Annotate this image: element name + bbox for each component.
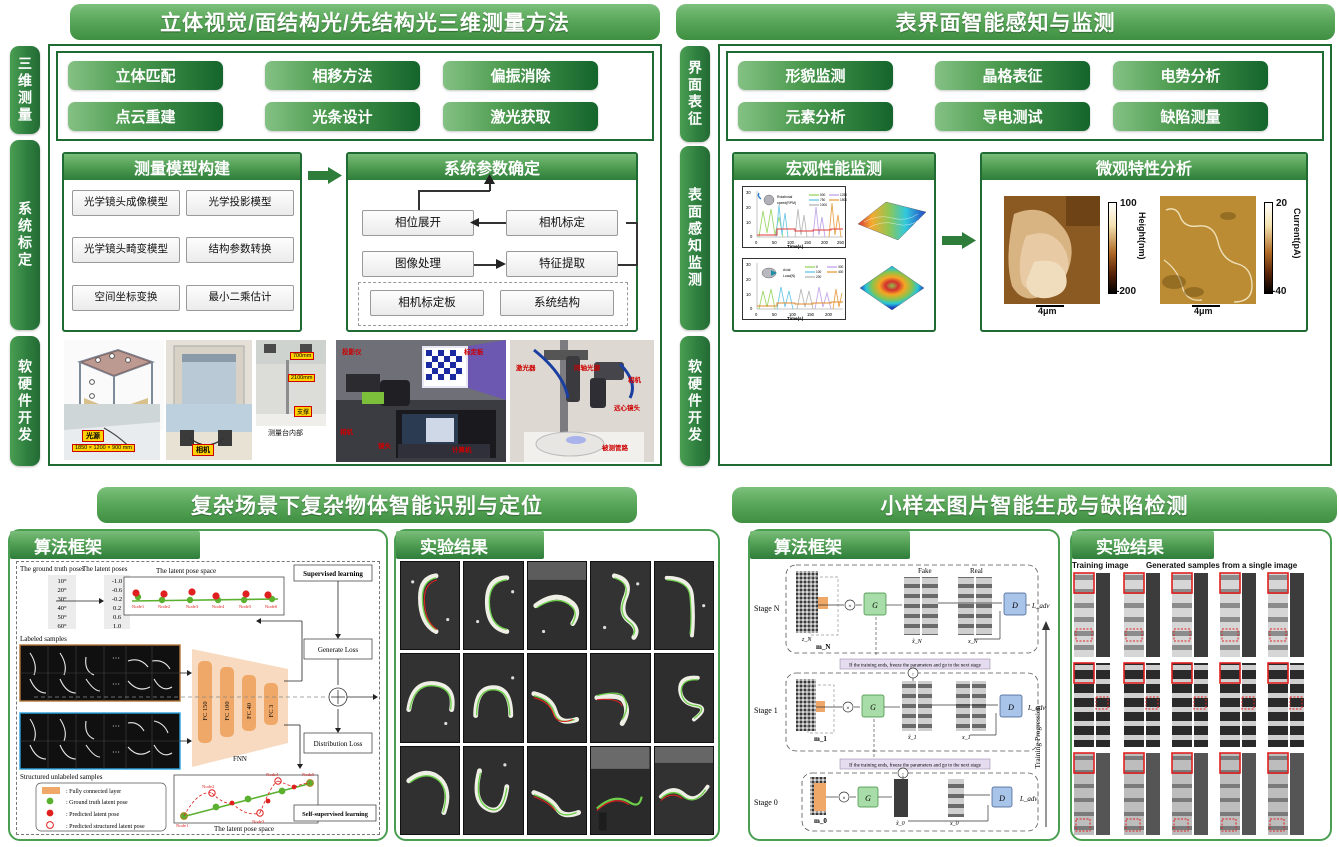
- svg-text:Axial: Axial: [783, 268, 791, 272]
- photo-tag-cam2: 相机: [340, 426, 353, 436]
- svg-text:x_N: x_N: [967, 639, 979, 645]
- vtab-hw-sw-dev-2[interactable]: 软硬件开发: [680, 336, 710, 466]
- svg-text:1250: 1250: [840, 193, 847, 197]
- chart-axial-load: 3020100 050100150200 AxialLoad(N) 010020…: [742, 258, 846, 320]
- algo-card-title-p4: 算法框架: [750, 531, 910, 559]
- svg-text:Real: Real: [970, 567, 983, 575]
- method2-pill-3[interactable]: 元素分析: [738, 102, 893, 131]
- photo-tag-light-spec: 1850 × 1200 × 900 mm: [72, 444, 135, 452]
- colorbar-height-max: 100: [1120, 198, 1137, 209]
- svg-text:50: 50: [772, 312, 777, 317]
- result-cell: [400, 746, 460, 835]
- label-generated-samples: Generated samples from a single image: [1146, 561, 1297, 570]
- result-cell: [400, 561, 460, 650]
- svg-text:Node3: Node3: [252, 819, 265, 824]
- svg-text:0.2: 0.2: [113, 605, 121, 612]
- svg-text:m_1: m_1: [814, 735, 827, 743]
- svg-text:30: 30: [746, 190, 751, 195]
- svg-text:×: ×: [846, 706, 849, 712]
- model-item-0[interactable]: 光学镜头成像模型: [72, 190, 180, 216]
- scalebar-right: [1192, 305, 1220, 307]
- afm-image-current: [1160, 196, 1256, 304]
- photo-tag-camera: 相机: [192, 444, 214, 456]
- svg-text:FNN: FNN: [233, 755, 247, 763]
- vtab-system-calibration[interactable]: 系统标定: [10, 140, 40, 330]
- panel-surface-sensing-title: 表界面智能感知与监测: [676, 4, 1335, 40]
- svg-text:The ground truth poses: The ground truth poses: [20, 565, 85, 573]
- svg-text:1.0: 1.0: [113, 623, 121, 630]
- svg-text:1000: 1000: [820, 203, 827, 207]
- result-cell: [527, 561, 587, 650]
- model-item-3[interactable]: 结构参数转换: [186, 237, 294, 263]
- svg-text:Stage N: Stage N: [754, 604, 780, 613]
- model-item-1[interactable]: 光学投影模型: [186, 190, 294, 216]
- arrow-up-icon: [484, 174, 495, 184]
- model-item-2[interactable]: 光学镜头畸变模型: [72, 237, 180, 263]
- photo-tag-projector: 投影仪: [342, 346, 362, 356]
- svg-text:20: 20: [746, 205, 751, 210]
- card-measurement-model-title: 测量模型构建: [64, 154, 300, 180]
- svg-text:G: G: [872, 601, 878, 610]
- method2-pill-0[interactable]: 形貌监测: [738, 61, 893, 90]
- svg-text:L_adv: L_adv: [1031, 602, 1050, 610]
- photo-tag-computer: 计算机: [452, 444, 472, 454]
- panel-sample-generation: 小样本图片智能生成与缺陷检测 算法框架 Stage N: [732, 487, 1337, 845]
- scalebar-left: [1036, 305, 1064, 307]
- method2-pill-1[interactable]: 晶格表征: [935, 61, 1090, 90]
- svg-text:50°: 50°: [57, 614, 67, 621]
- card-micro-analysis: 微观特性分析 100 -200 Height(nm) 4μm: [980, 152, 1308, 332]
- svg-text:Node4: Node4: [212, 604, 225, 609]
- param-item-feature-extract[interactable]: 特征提取: [506, 251, 618, 277]
- algo-card-title-p3: 算法框架: [10, 531, 200, 559]
- svg-text:: Predicted structured latent: : Predicted structured latent pose: [66, 824, 145, 830]
- panel-3d-measurement-title: 立体视觉/面结构光/先结构光三维测量方法: [70, 4, 660, 40]
- result-card-title-p4: 实验结果: [1072, 531, 1214, 559]
- param-item-camera-calib[interactable]: 相机标定: [506, 210, 618, 236]
- result-cell: [590, 746, 650, 835]
- svg-text:Training Progression: Training Progression: [1033, 705, 1042, 768]
- svg-text:Distribution Loss: Distribution Loss: [314, 740, 363, 748]
- arrow-left-icon: [470, 218, 480, 227]
- svg-text:D: D: [998, 794, 1005, 803]
- svg-text:The latent poses: The latent poses: [82, 565, 128, 573]
- svg-text:100: 100: [816, 270, 822, 274]
- svg-text:Time(s): Time(s): [787, 244, 804, 249]
- svg-text:If the training ends, freeze t: If the training ends, freeze the paramet…: [849, 664, 982, 669]
- colorbar-height-label: Height(nm): [1137, 212, 1147, 260]
- svg-text:60°: 60°: [57, 623, 67, 630]
- photo-tag-support: 支撑: [294, 406, 312, 417]
- model-item-5[interactable]: 最小二乘估计: [186, 285, 294, 311]
- svg-text:×: ×: [842, 796, 845, 802]
- param-item-calib-board[interactable]: 相机标定板: [370, 290, 484, 316]
- photo-tag-coax: 同轴光源: [574, 362, 600, 372]
- svg-text:40°: 40°: [57, 605, 67, 612]
- result-cell: [590, 653, 650, 742]
- svg-text:300: 300: [838, 265, 844, 269]
- flow-arrow-icon-2: [942, 232, 976, 249]
- method-pill-0[interactable]: 立体匹配: [68, 61, 223, 90]
- afm-image-height: [1004, 196, 1100, 304]
- svg-text:Time(s): Time(s): [787, 316, 804, 321]
- svg-text:If the training ends, freeze t: If the training ends, freeze the paramet…: [849, 764, 982, 769]
- vtab-3d-measure[interactable]: 三维测量: [10, 46, 40, 134]
- panel-object-recognition: 复杂场景下复杂物体智能识别与定位 算法框架 The ground truth p…: [2, 487, 724, 845]
- svg-text:Node1: Node1: [132, 604, 145, 609]
- svg-text:250: 250: [837, 240, 845, 245]
- scalebar-left-label: 4μm: [1038, 306, 1057, 316]
- conn-2: [418, 190, 420, 210]
- vtab-surface-monitoring[interactable]: 表面感知监测: [680, 146, 710, 330]
- svg-text:x_0: x_0: [949, 821, 959, 827]
- svg-text:···: ···: [112, 722, 120, 731]
- photo-tag-laser: 激光器: [516, 362, 536, 372]
- result-cell: [654, 561, 714, 650]
- svg-text:Load(N): Load(N): [783, 274, 795, 278]
- svg-text:Node6: Node6: [265, 604, 278, 609]
- svg-text:Fake: Fake: [918, 567, 932, 575]
- svg-text:0: 0: [750, 306, 753, 311]
- svg-text:x̃_N: x̃_N: [911, 639, 923, 645]
- svg-text:L_adv: L_adv: [1019, 795, 1038, 803]
- svg-text:750: 750: [820, 198, 826, 202]
- svg-text:···: ···: [112, 680, 120, 689]
- svg-text:m_0: m_0: [814, 817, 827, 825]
- svg-text:-0.6: -0.6: [112, 587, 123, 594]
- surface-plot-3d-1: [852, 192, 932, 254]
- arrow-right-icon: [496, 259, 506, 269]
- method2-pill-2[interactable]: 电势分析: [1113, 61, 1268, 90]
- vtab-hw-sw-dev[interactable]: 软硬件开发: [10, 336, 40, 466]
- svg-text:D: D: [1007, 703, 1014, 712]
- svg-text:Stage 1: Stage 1: [754, 706, 778, 715]
- result-cell: [654, 653, 714, 742]
- svg-text:The latent pose space: The latent pose space: [156, 567, 216, 575]
- svg-text:0: 0: [755, 312, 758, 317]
- chart-rotational-speed: 3020100 050100150200250 Rotationalspeed(…: [742, 186, 846, 248]
- method-pill-1[interactable]: 相移方法: [265, 61, 420, 90]
- svg-text:FC 40: FC 40: [246, 703, 253, 719]
- photo-tag-dim-h: 700mm: [290, 352, 314, 360]
- svg-text:···: ···: [112, 748, 120, 757]
- svg-text:Self-supervised learning: Self-supervised learning: [302, 811, 369, 818]
- svg-text:G: G: [870, 703, 876, 712]
- svg-text:400: 400: [838, 270, 844, 274]
- model-item-4[interactable]: 空间坐标变换: [72, 285, 180, 311]
- param-item-image-proc[interactable]: 图像处理: [362, 251, 474, 277]
- flow-arrow-icon: [308, 167, 342, 184]
- result-card-title-p3: 实验结果: [396, 531, 544, 559]
- svg-text:: Fully connected layer: : Fully connected layer: [66, 789, 121, 795]
- svg-text:z_N: z_N: [801, 637, 812, 643]
- svg-text:FC 3: FC 3: [268, 705, 275, 718]
- svg-text:Node3: Node3: [186, 604, 199, 609]
- panel-surface-sensing: 表界面智能感知与监测 界面表征 表面感知监测 软硬件开发 形貌监测 晶格表征 电…: [676, 4, 1335, 470]
- svg-text:1500: 1500: [840, 198, 847, 202]
- card-system-parameters: 系统参数确定 相位展开 相机标定 图像处理 特征提取 相机标定板 系统结构: [346, 152, 638, 332]
- svg-text:150: 150: [804, 240, 812, 245]
- colorbar-current: [1264, 202, 1273, 294]
- poster-root: 立体视觉/面结构光/先结构光三维测量方法 三维测量 系统标定 软硬件开发 立体匹…: [0, 0, 1339, 847]
- svg-text:200: 200: [816, 275, 822, 279]
- svg-text:Node4: Node4: [266, 772, 279, 777]
- photo-platform-interior: 700mm 2100mm 支撑: [256, 340, 326, 426]
- svg-text:200: 200: [821, 240, 829, 245]
- svg-text:200: 200: [825, 312, 833, 317]
- svg-text:0: 0: [816, 265, 818, 269]
- method-pill-3[interactable]: 点云重建: [68, 102, 223, 131]
- method2-pill-4[interactable]: 导电测试: [935, 102, 1090, 131]
- svg-text:Node1: Node1: [176, 823, 189, 828]
- svg-text:↑: ↑: [912, 672, 915, 678]
- svg-text:10°: 10°: [57, 578, 67, 585]
- colorbar-height: [1108, 202, 1117, 294]
- photo-camera-closeup: 相机: [166, 404, 252, 460]
- algo-diagram-p3: The ground truth poses 10°20°30° 40°50°6…: [16, 561, 380, 835]
- colorbar-height-min: -200: [1116, 286, 1136, 297]
- gan-diagram: Stage N z_N m_N × G Fake Real x̃_N x_N: [752, 561, 1056, 837]
- xray-result-grid: [1072, 571, 1330, 837]
- svg-text:0.6: 0.6: [113, 614, 122, 621]
- colorbar-current-max: 20: [1276, 198, 1287, 209]
- photo-label-inside: 测量台内部: [268, 428, 303, 438]
- svg-text:20°: 20°: [57, 587, 67, 594]
- conn-7: [636, 222, 638, 264]
- result-cell: [463, 653, 523, 742]
- photo-tag-light: 光源: [82, 430, 104, 442]
- result-cell: [463, 561, 523, 650]
- svg-text:Node2: Node2: [158, 604, 171, 609]
- card-macro-title: 宏观性能监测: [734, 154, 934, 180]
- param-item-phase-unwrap[interactable]: 相位展开: [362, 210, 474, 236]
- svg-text:10: 10: [746, 220, 751, 225]
- svg-text:FC 100: FC 100: [224, 701, 231, 720]
- result-cell: [527, 653, 587, 742]
- conn-3: [418, 190, 490, 192]
- svg-text:x_1: x_1: [961, 735, 971, 741]
- card-micro-title: 微观特性分析: [982, 154, 1306, 180]
- method-pill-4[interactable]: 光条设计: [265, 102, 420, 131]
- result-cell: [463, 746, 523, 835]
- photo-tag-lens: 镜头: [378, 440, 391, 450]
- photo-laser-setup: 激光器 同轴光源 相机 远心镜头 被测管路: [510, 340, 654, 462]
- card-macro-monitoring: 宏观性能监测 3020100: [732, 152, 936, 332]
- photo-tag-calib-board: 标定板: [464, 346, 484, 356]
- panel-sample-generation-title: 小样本图片智能生成与缺陷检测: [732, 487, 1337, 523]
- svg-text:30: 30: [746, 262, 751, 267]
- svg-text:Generate Loss: Generate Loss: [318, 646, 359, 654]
- method-pill-2[interactable]: 偏振消除: [443, 61, 598, 90]
- svg-text:···: ···: [112, 654, 120, 663]
- svg-text:30°: 30°: [57, 596, 67, 603]
- svg-text:: Ground truth latent pose: : Ground truth latent pose: [66, 800, 128, 806]
- conn-8: [618, 264, 638, 266]
- svg-text:0: 0: [750, 234, 753, 239]
- result-cell: [400, 653, 460, 742]
- svg-text:Labeled samples: Labeled samples: [20, 635, 67, 643]
- panel-3d-measurement: 立体视觉/面结构光/先结构光三维测量方法 三维测量 系统标定 软硬件开发 立体匹…: [6, 4, 666, 470]
- svg-text:-0.2: -0.2: [112, 596, 122, 603]
- svg-text:Structured unlabeled samples: Structured unlabeled samples: [20, 773, 103, 781]
- photo-tag-pipe: 被测管路: [602, 442, 628, 452]
- svg-text:Node5: Node5: [239, 604, 252, 609]
- svg-text:50: 50: [772, 240, 777, 245]
- svg-text:10: 10: [746, 292, 751, 297]
- svg-text:FC 150: FC 150: [202, 701, 209, 720]
- svg-text:speed(RPM): speed(RPM): [777, 201, 796, 205]
- svg-text:20: 20: [746, 277, 751, 282]
- method2-pill-5[interactable]: 缺陷测量: [1113, 102, 1268, 131]
- svg-text:: Predicted latent pose: : Predicted latent pose: [66, 812, 119, 818]
- panel-object-recognition-title: 复杂场景下复杂物体智能识别与定位: [97, 487, 637, 523]
- svg-text:-1.0: -1.0: [112, 578, 122, 585]
- svg-text:D: D: [1011, 601, 1018, 610]
- param-item-system-struct[interactable]: 系统结构: [500, 290, 614, 316]
- photo-tag-dim-v: 2100mm: [288, 374, 315, 382]
- svg-text:Node2: Node2: [202, 784, 215, 789]
- svg-text:Node5: Node5: [302, 772, 315, 777]
- photo-projector-setup: 投影仪 标定板 相机 镜头 计算机: [336, 340, 506, 462]
- photo-tag-cam3: 相机: [628, 374, 641, 384]
- method-pill-5[interactable]: 激光获取: [443, 102, 598, 131]
- svg-text:Rotational: Rotational: [777, 195, 793, 199]
- svg-text:Stage 0: Stage 0: [754, 798, 778, 807]
- svg-text:x̃_0: x̃_0: [895, 821, 905, 827]
- svg-text:500: 500: [820, 193, 826, 197]
- svg-text:x̃_1: x̃_1: [907, 735, 917, 741]
- svg-text:m_N: m_N: [816, 643, 830, 651]
- svg-text:150: 150: [807, 312, 815, 317]
- card-measurement-model: 测量模型构建 光学镜头成像模型 光学投影模型 光学镜头畸变模型 结构参数转换 空…: [62, 152, 302, 332]
- photo-light-source: 光源 1850 × 1200 × 900 mm: [64, 404, 160, 460]
- result-cell: [590, 561, 650, 650]
- svg-text:×: ×: [848, 604, 851, 610]
- surface-plot-3d-2: [852, 258, 932, 320]
- photo-tag-telecentric: 远心镜头: [614, 402, 640, 412]
- vtab-interface-characterization[interactable]: 界面表征: [680, 46, 710, 142]
- svg-text:0: 0: [755, 240, 758, 245]
- label-training-image: Training image: [1072, 561, 1128, 570]
- result-cell: [654, 746, 714, 835]
- svg-text:G: G: [865, 794, 871, 803]
- svg-text:The latent pose space: The latent pose space: [214, 825, 274, 833]
- result-cell: [527, 746, 587, 835]
- scalebar-right-label: 4μm: [1194, 306, 1213, 316]
- result-image-grid-p3: [400, 561, 714, 835]
- colorbar-current-label: Current(pA): [1292, 208, 1302, 259]
- colorbar-current-min: -40: [1272, 286, 1286, 297]
- svg-text:Supervised learning: Supervised learning: [303, 570, 363, 578]
